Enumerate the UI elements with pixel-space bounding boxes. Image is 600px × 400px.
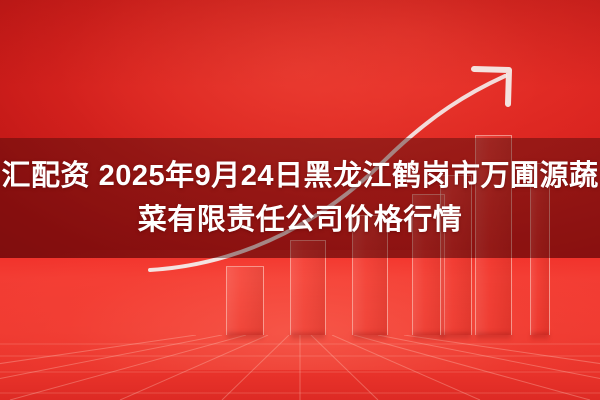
bar-shadow (531, 333, 549, 341)
headline-line-2: 菜有限责任公司价格行情 (138, 200, 463, 240)
banner-headline: 汇配资 2025年9月24日黑龙江鹤岗市万圃源蔬 菜有限责任公司价格行情 (0, 138, 600, 258)
banner-image: 汇配资 2025年9月24日黑龙江鹤岗市万圃源蔬 菜有限责任公司价格行情 (0, 0, 600, 400)
bar-shadow (353, 333, 387, 341)
bar-shadow (441, 333, 471, 341)
bar-shadow (227, 333, 263, 341)
headline-line-1: 汇配资 2025年9月24日黑龙江鹤岗市万圃源蔬 (2, 156, 599, 196)
bar-face (227, 267, 263, 335)
chart-bar (226, 266, 264, 335)
bar-shadow (291, 333, 325, 341)
bar-shadow (476, 333, 511, 341)
